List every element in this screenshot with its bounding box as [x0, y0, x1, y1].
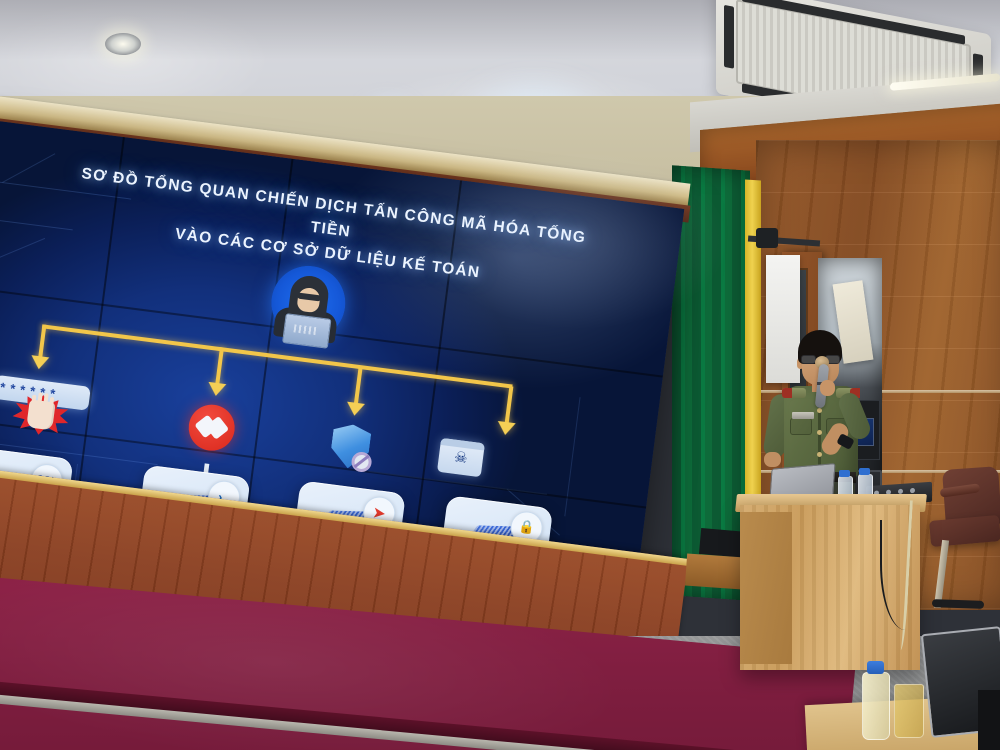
flow-arrow-2 — [207, 382, 227, 397]
anydesk-remote-icon — [186, 402, 237, 453]
uniform-pocket-left — [790, 418, 812, 435]
bottle-cap — [859, 468, 870, 475]
ceiling-speaker-icon — [756, 228, 778, 248]
hand-icon — [26, 399, 55, 430]
recessed-downlight-icon — [105, 33, 141, 55]
foreground-object — [978, 690, 1000, 750]
flow-arrow-3 — [345, 402, 365, 417]
flow-arrow-1 — [30, 355, 50, 370]
skull-glyph-icon: ☠ — [452, 450, 470, 470]
flow-drop-1 — [38, 324, 47, 360]
foreground-bottle-cap — [867, 661, 884, 674]
flow-drop-2 — [215, 347, 224, 387]
foreground-water-bottle[interactable] — [862, 672, 890, 740]
podium-side-panel — [740, 512, 792, 664]
tea-glass[interactable] — [894, 684, 924, 738]
epaulette-left — [782, 388, 806, 398]
hacker-figure-icon — [259, 261, 355, 357]
flow-drop-3 — [354, 367, 363, 405]
uniform-button — [817, 430, 822, 435]
uniform-button — [817, 408, 822, 413]
uniform-button — [817, 452, 822, 457]
presentation-room-photo: SƠ ĐỒ TỔNG QUAN CHIẾN DỊCH TẤN CÔNG MÃ H… — [0, 0, 1000, 750]
bottle-cap — [839, 470, 850, 477]
presenter-right-hand — [820, 380, 835, 396]
presenter-left-hand — [764, 452, 781, 467]
name-badge — [792, 412, 814, 419]
flow-arrow-4 — [496, 421, 516, 436]
flow-drop-4 — [504, 386, 513, 426]
